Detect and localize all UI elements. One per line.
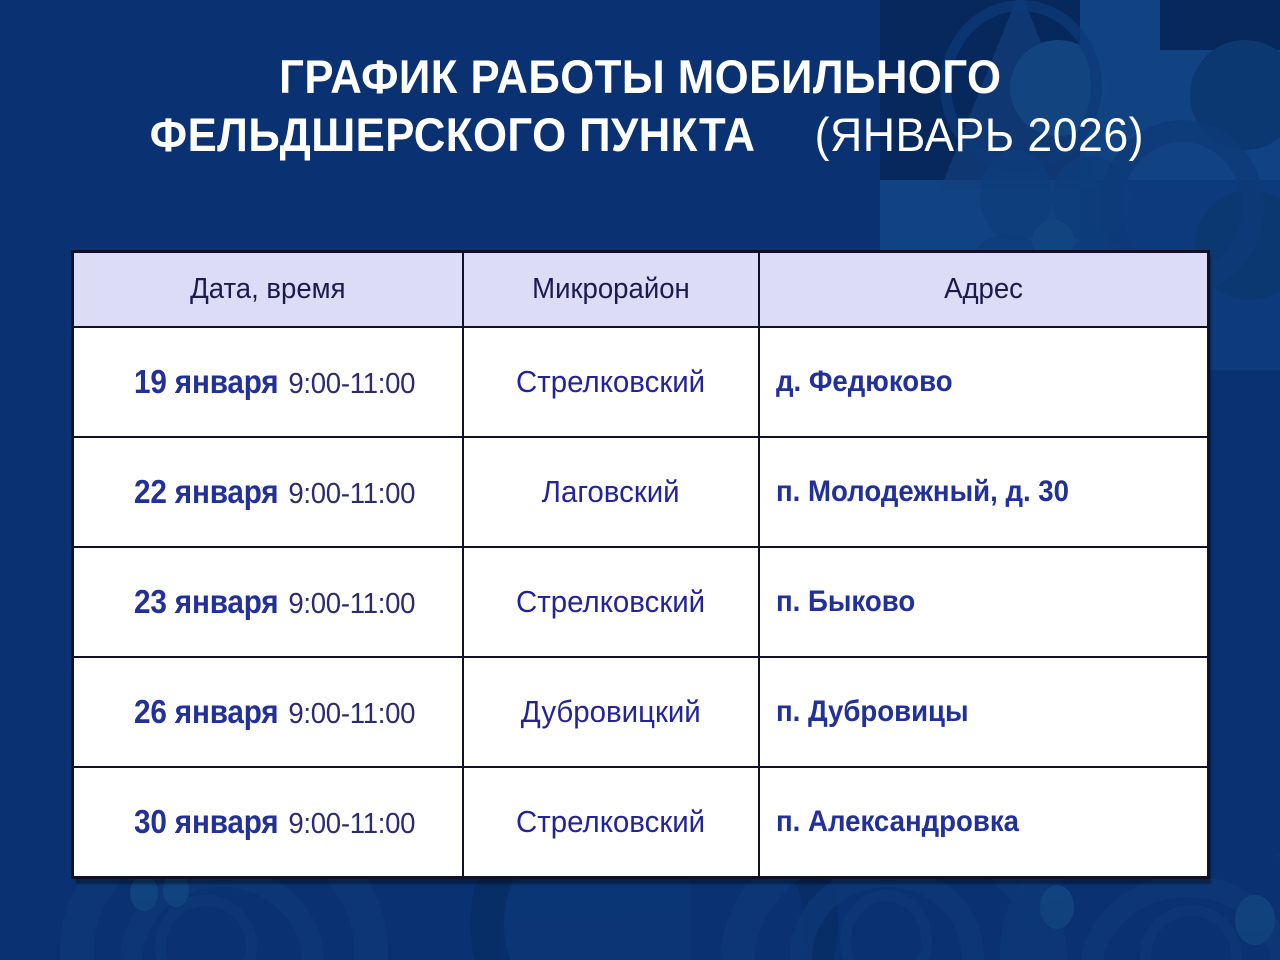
- cell-district: Стрелковский: [463, 547, 759, 657]
- cell-district: Дубровицкий: [463, 657, 759, 767]
- address-label: п. Молодежный, д. 30: [776, 475, 1069, 509]
- address-label: п. Александровка: [776, 805, 1019, 839]
- address-label: п. Дубровицы: [776, 695, 969, 729]
- date-time: 9:00-11:00: [288, 368, 415, 401]
- column-header-district-label: Микрорайон: [532, 273, 690, 306]
- district-label: Стрелковский: [516, 804, 705, 840]
- address-label: д. Федюково: [776, 365, 953, 399]
- cell-district: Стрелковский: [463, 767, 759, 877]
- date-day: 19 января: [134, 363, 278, 401]
- cell-date: 26 января9:00-11:00: [73, 657, 463, 767]
- column-header-address-label: Адрес: [944, 273, 1023, 306]
- title-line-1: ГРАФИК РАБОТЫ МОБИЛЬНОГО: [40, 48, 1240, 106]
- title-line-1-text: ГРАФИК РАБОТЫ МОБИЛЬНОГО: [279, 48, 1001, 106]
- table-row: 30 января9:00-11:00 Стрелковский п. Алек…: [73, 767, 1208, 877]
- date-day: 30 января: [134, 803, 278, 841]
- poster-title: ГРАФИК РАБОТЫ МОБИЛЬНОГО ФЕЛЬДШЕРСКОГО П…: [0, 48, 1280, 164]
- date-time: 9:00-11:00: [288, 588, 415, 621]
- table-row: 22 января9:00-11:00 Лаговский п. Молодеж…: [73, 437, 1208, 547]
- cell-address: п. Дубровицы: [759, 657, 1208, 767]
- column-header-district: Микрорайон: [463, 252, 759, 327]
- district-label: Стрелковский: [516, 364, 705, 400]
- cell-date: 23 января9:00-11:00: [73, 547, 463, 657]
- date-time: 9:00-11:00: [288, 478, 415, 511]
- district-label: Дубровицкий: [521, 694, 701, 730]
- cell-address: п. Александровка: [759, 767, 1208, 877]
- cell-date: 19 января9:00-11:00: [73, 327, 463, 437]
- column-header-date: Дата, время: [73, 252, 463, 327]
- table-header-row: Дата, время Микрорайон Адрес: [73, 252, 1208, 327]
- table-row: 26 января9:00-11:00 Дубровицкий п. Дубро…: [73, 657, 1208, 767]
- table-header: Дата, время Микрорайон Адрес: [73, 252, 1208, 327]
- district-label: Стрелковский: [516, 584, 705, 620]
- table-row: 19 января9:00-11:00 Стрелковский д. Федю…: [73, 327, 1208, 437]
- ornament-block: [1160, 0, 1280, 50]
- cell-district: Стрелковский: [463, 327, 759, 437]
- cell-date: 30 января9:00-11:00: [73, 767, 463, 877]
- cell-address: п. Молодежный, д. 30: [759, 437, 1208, 547]
- cell-district: Лаговский: [463, 437, 759, 547]
- cell-date: 22 января9:00-11:00: [73, 437, 463, 547]
- column-header-address: Адрес: [759, 252, 1208, 327]
- date-time: 9:00-11:00: [288, 698, 415, 731]
- title-line-2-text: ФЕЛЬДШЕРСКОГО ПУНКТА: [150, 106, 756, 164]
- cell-address: д. Федюково: [759, 327, 1208, 437]
- date-day: 23 января: [134, 583, 278, 621]
- title-line-2: ФЕЛЬДШЕРСКОГО ПУНКТА (ЯНВАРЬ 2026): [40, 106, 1240, 164]
- schedule-table: Дата, время Микрорайон Адрес 19 января9:…: [72, 251, 1209, 878]
- poster-canvas: ГРАФИК РАБОТЫ МОБИЛЬНОГО ФЕЛЬДШЕРСКОГО П…: [0, 0, 1280, 960]
- address-label: п. Быково: [776, 585, 915, 619]
- cell-address: п. Быково: [759, 547, 1208, 657]
- date-day: 26 января: [134, 693, 278, 731]
- district-label: Лаговский: [542, 474, 680, 510]
- title-month-year: (ЯНВАРЬ 2026): [815, 106, 1144, 164]
- table-body: 19 января9:00-11:00 Стрелковский д. Федю…: [73, 327, 1208, 877]
- table-row: 23 января9:00-11:00 Стрелковский п. Быко…: [73, 547, 1208, 657]
- date-day: 22 января: [134, 473, 278, 511]
- date-time: 9:00-11:00: [288, 808, 415, 841]
- column-header-date-label: Дата, время: [190, 273, 345, 306]
